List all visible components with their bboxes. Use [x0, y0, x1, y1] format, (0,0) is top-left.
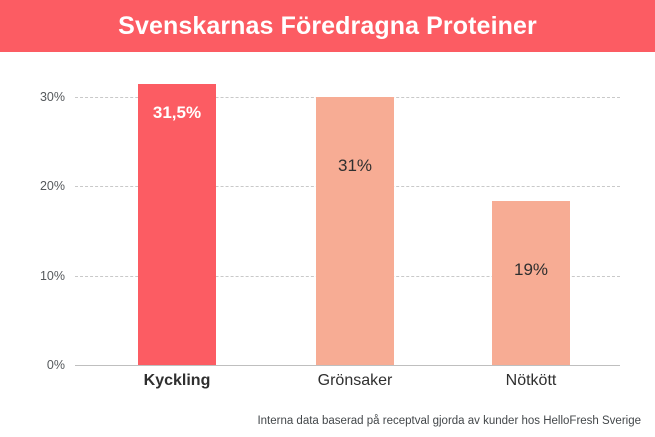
plot-area: 31,5% 31% 19% Kyckling Grönsaker Nötkött: [75, 52, 620, 365]
page-title: Svenskarnas Föredragna Proteiner: [118, 14, 537, 39]
bar-value-notkott: 19%: [492, 261, 570, 278]
x-axis-line: [75, 365, 620, 366]
chart-canvas: 31,5% 31% 19% Kyckling Grönsaker Nötkött…: [0, 52, 655, 437]
x-tick-label-notkott: Nötkött: [451, 372, 611, 390]
bar-gronsaker[interactable]: 31%: [316, 97, 394, 365]
x-tick-label-gronsaker: Grönsaker: [275, 372, 435, 390]
bar-value-kyckling: 31,5%: [138, 104, 216, 121]
y-tick-label-30: 30%: [5, 90, 65, 104]
bar-kyckling[interactable]: 31,5%: [138, 84, 216, 365]
y-tick-label-10: 10%: [5, 269, 65, 283]
y-tick-label-20: 20%: [5, 179, 65, 193]
source-note: Interna data baserad på receptval gjorda…: [257, 415, 641, 427]
bar-notkott[interactable]: 19%: [492, 201, 570, 365]
y-tick-label-0: 0%: [5, 358, 65, 372]
x-tick-label-kyckling: Kyckling: [97, 372, 257, 390]
bar-value-gronsaker: 31%: [316, 157, 394, 174]
chart-header-band: Svenskarnas Föredragna Proteiner: [0, 0, 655, 52]
